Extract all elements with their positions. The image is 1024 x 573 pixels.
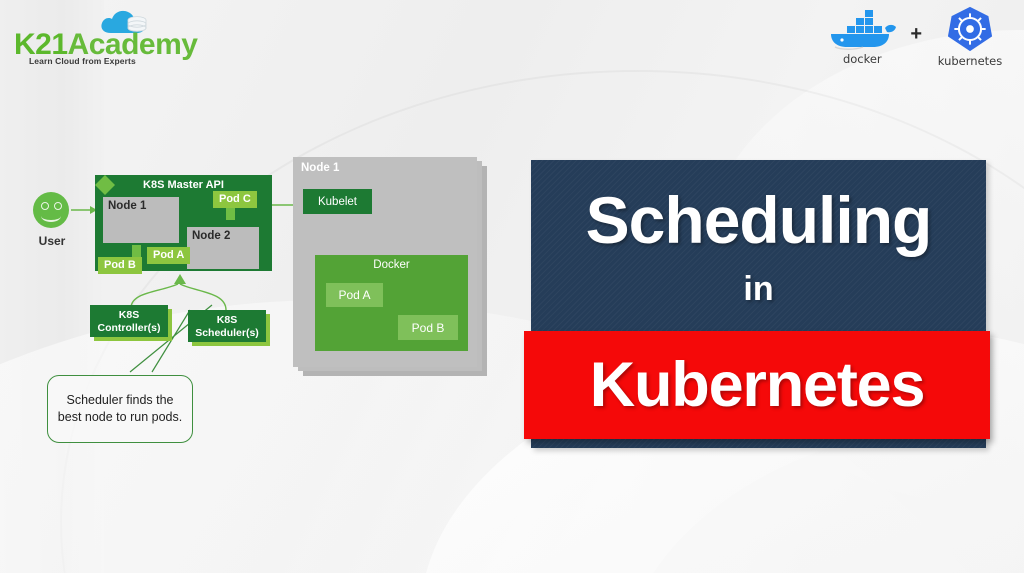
schedulers-line2: Scheduler(s) [188,327,266,340]
k8s-master-api-box: K8S Master API Node 1 Node 2 Pod C Pod A… [95,175,272,271]
master-title: K8S Master API [95,179,272,191]
master-pod-b-chip: Pod B [98,257,142,274]
title-red-banner: Kubernetes [524,331,990,439]
docker-whale-icon [825,6,899,50]
slide-canvas: K21Academy Learn Cloud from Experts [0,0,1024,573]
docker-label: docker [843,52,882,66]
pod-c-arrow-stem [226,208,235,220]
master-pod-c-chip: Pod C [213,191,257,208]
user-avatar-icon [33,192,69,228]
docker-title: Docker [315,259,468,271]
avatar-smile [41,210,61,222]
title-line-kubernetes: Kubernetes [590,349,925,421]
user-label: User [30,234,74,248]
docker-brand: docker [822,6,902,66]
schedulers-line1: K8S [188,314,266,327]
plus-icon: + [910,23,922,46]
master-pod-a-chip: Pod A [147,247,190,264]
avatar-eye-right [54,202,62,210]
controllers-line1: K8S [90,309,168,322]
worker-pod-a: Pod A [326,283,383,307]
controllers-line2: Controller(s) [90,322,168,335]
avatar-eye-left [41,202,49,210]
title-line-in: in [531,268,986,310]
scheduler-callout: Scheduler finds the best node to run pod… [47,375,193,443]
title-line-scheduling: Scheduling [531,182,986,258]
brand-logos-group: docker + kubernetes [822,6,1010,68]
architecture-diagram: User K8S Master API Node 1 Node 2 Pod C … [0,0,520,573]
kubernetes-helm-icon [945,6,995,52]
kubernetes-brand: kubernetes [930,6,1010,68]
worker-node-box: Node 1 Kubelet Docker Pod A Pod B [293,157,477,367]
worker-node-title: Node 1 [301,162,339,174]
kubernetes-label: kubernetes [938,54,1002,68]
kubelet-box: Kubelet [303,189,372,214]
worker-pod-b: Pod B [398,315,458,340]
k8s-controllers-box: K8S Controller(s) [90,305,168,337]
docker-runtime-box: Docker Pod A Pod B [315,255,468,351]
master-node-1: Node 1 [103,197,179,243]
k8s-schedulers-box: K8S Scheduler(s) [188,310,266,342]
master-node-2: Node 2 [187,227,259,269]
